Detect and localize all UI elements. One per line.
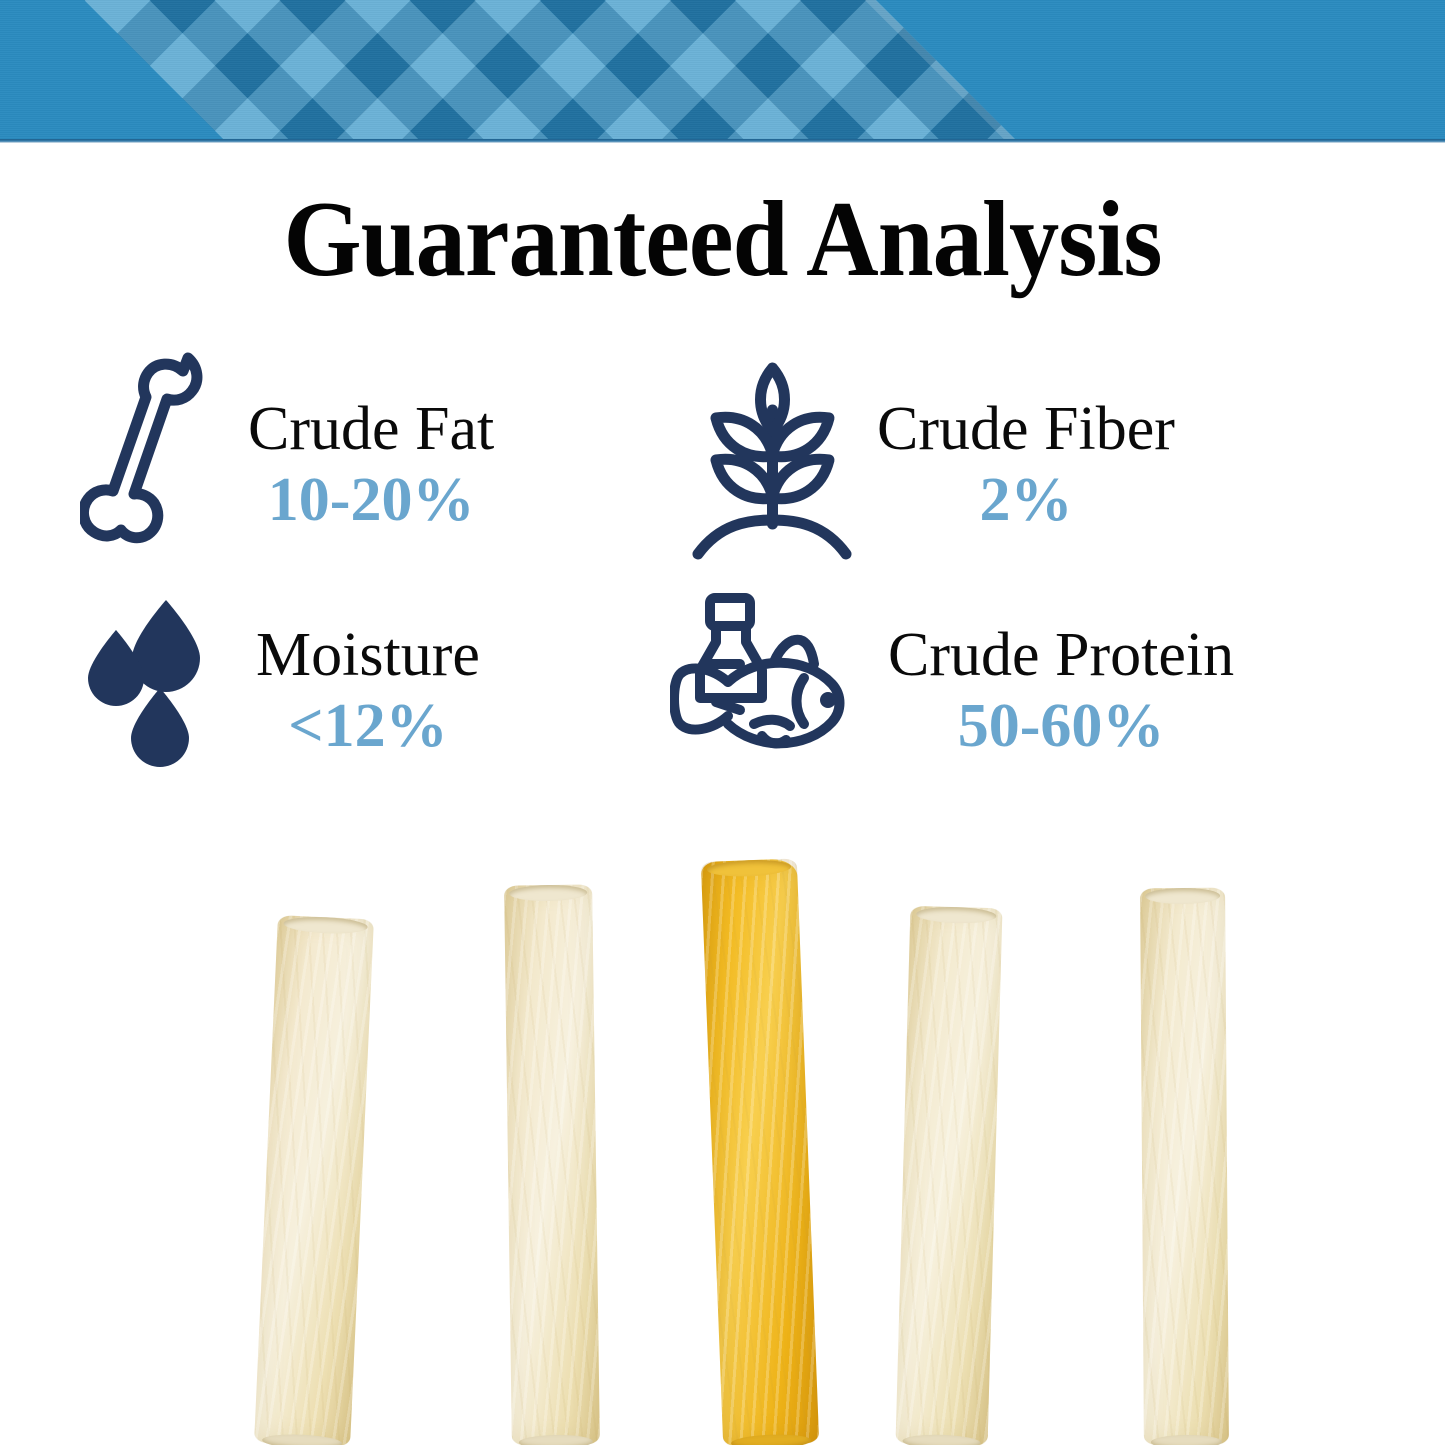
spec-label-crude-fiber: Crude Fiber [877, 398, 1175, 461]
spec-text-crude-fat: Crude Fat 10-20% [248, 398, 494, 534]
chew-stick-2 [504, 884, 600, 1445]
chew-stick-4 [896, 906, 1003, 1445]
spec-row-moisture: Moisture <12% [80, 590, 480, 785]
spec-row-crude-protein: Crude Protein 50-60% [670, 590, 1234, 785]
chew-stick-5 [1140, 888, 1229, 1445]
spec-text-crude-fiber: Crude Fiber 2% [877, 398, 1175, 534]
chew-stick-3-golden [701, 858, 819, 1445]
chew-stick-4-texture [896, 906, 1003, 1445]
water-drops-icon [80, 590, 232, 785]
spec-value-crude-fat: 10-20% [268, 467, 475, 534]
spec-text-crude-protein: Crude Protein 50-60% [888, 624, 1234, 760]
spec-row-crude-fat: Crude Fat 10-20% [80, 352, 494, 572]
fish-oil-icon [670, 590, 870, 785]
gingham-banner [0, 0, 1445, 141]
chew-stick-1 [254, 915, 374, 1445]
spec-value-moisture: <12% [288, 693, 447, 760]
spec-text-moisture: Moisture <12% [256, 624, 480, 760]
spec-label-moisture: Moisture [256, 624, 480, 687]
chew-stick-5-texture [1140, 888, 1229, 1445]
spec-value-crude-fiber: 2% [979, 467, 1072, 534]
chew-stick-2-texture [504, 884, 600, 1445]
rawhide-chew-sticks [0, 830, 1445, 1445]
guaranteed-analysis-grid: Crude Fat 10-20% [70, 352, 1390, 812]
fabric-weave-overlay [0, 0, 1445, 141]
chew-stick-1-texture [254, 915, 374, 1445]
spec-value-crude-protein: 50-60% [958, 693, 1165, 760]
wheat-icon [690, 352, 855, 572]
bone-icon [80, 352, 230, 572]
spec-label-crude-fat: Crude Fat [248, 398, 494, 461]
spec-label-crude-protein: Crude Protein [888, 624, 1234, 687]
chew-stick-3-texture [701, 858, 819, 1445]
banner-bottom-rule [0, 139, 1445, 143]
chew-stick-5-bottom-cap [1151, 1435, 1223, 1445]
spec-row-crude-fiber: Crude Fiber 2% [690, 352, 1175, 572]
product-infographic: Guaranteed Analysis Crude Fat 10-20% [0, 0, 1445, 1445]
page-title: Guaranteed Analysis [51, 186, 1395, 294]
